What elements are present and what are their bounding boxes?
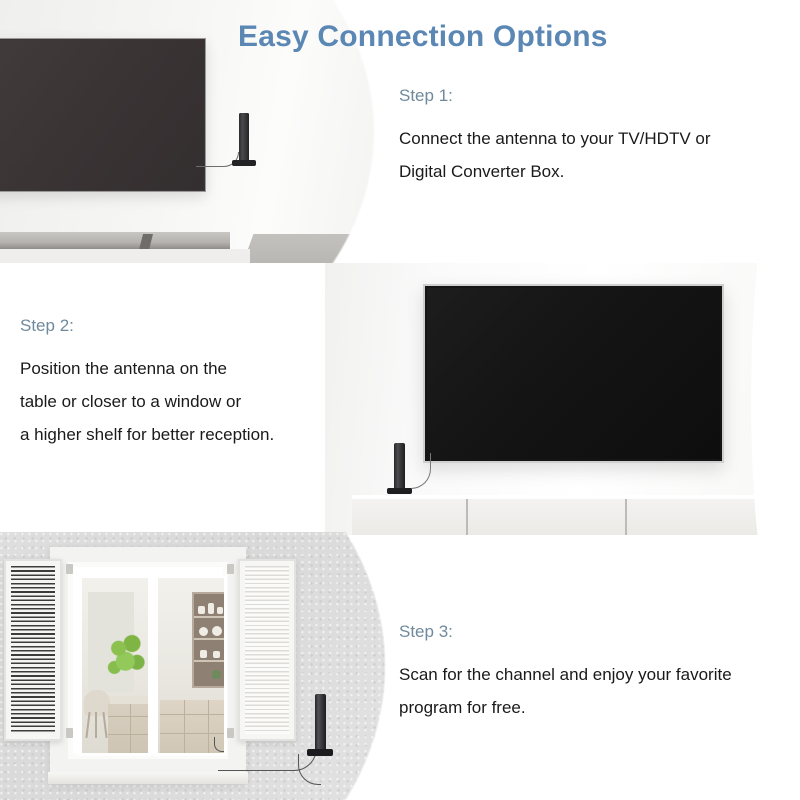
step-1-line-2: Digital Converter Box. — [399, 155, 769, 188]
step-1-line-1: Connect the antenna to your TV/HDTV or — [399, 122, 769, 155]
step-2-line-3: a higher shelf for better reception. — [20, 418, 350, 451]
bowl — [212, 626, 222, 636]
page-title: Easy Connection Options — [238, 20, 608, 54]
step-3-label: Step 3: — [399, 622, 789, 642]
chair-leg — [95, 712, 97, 738]
step-1-body: Connect the antenna to your TV/HDTV or D… — [399, 122, 769, 188]
step-2-line-1: Position the antenna on the — [20, 352, 350, 385]
shutter-hinge — [227, 728, 234, 738]
drawer-seam — [184, 700, 185, 756]
drawer-seam — [160, 714, 227, 715]
window-opening — [68, 562, 228, 759]
shutter-left — [4, 559, 62, 741]
antenna-base — [307, 749, 333, 756]
kitchen-shelving-unit — [192, 592, 226, 688]
dish — [213, 651, 220, 658]
shutter-hinge — [66, 564, 73, 574]
console-seam — [772, 499, 774, 535]
console-seam — [466, 499, 468, 535]
shelf-board — [194, 660, 224, 662]
step-1-block: Step 1: Connect the antenna to your TV/H… — [399, 86, 769, 188]
shutter-slats — [11, 566, 55, 734]
dish — [217, 607, 223, 614]
tv-screen — [427, 288, 720, 459]
antenna-tower — [239, 113, 249, 163]
tv-screen — [0, 40, 204, 190]
antenna-tower — [315, 694, 326, 752]
bowl — [199, 627, 208, 636]
antenna-tower — [394, 443, 405, 491]
shutter-hinge — [66, 728, 73, 738]
dish — [200, 650, 207, 658]
window-pane-left — [79, 575, 151, 756]
shelf-board — [194, 638, 224, 640]
floor-strip — [0, 249, 250, 263]
infographic-page: Easy Connection Options Step 1: Connect … — [0, 0, 800, 800]
houseplant — [106, 630, 148, 682]
step-2-label: Step 2: — [20, 316, 350, 336]
step-2-body: Position the antenna on the table or clo… — [20, 352, 350, 451]
drawer-seam — [160, 733, 227, 734]
kitchen-counter — [108, 704, 151, 756]
media-console — [352, 497, 800, 535]
step-1-label: Step 1: — [399, 86, 769, 106]
photo-window-with-shutters — [0, 532, 390, 800]
shutter-hinge — [227, 564, 234, 574]
window-pane-right — [155, 575, 227, 756]
shutter-slats — [245, 566, 289, 734]
console-top-edge — [352, 495, 800, 499]
dish — [198, 606, 205, 614]
step-3-block: Step 3: Scan for the channel and enjoy y… — [399, 622, 789, 724]
antenna-base — [387, 488, 412, 494]
shelf-board — [194, 616, 224, 618]
television — [423, 284, 724, 463]
step-2-line-2: table or closer to a window or — [20, 385, 350, 418]
drawer-seam — [130, 704, 131, 756]
potted-plant — [212, 670, 221, 679]
photo-tv-above-media-console — [325, 263, 800, 535]
step-3-line-1: Scan for the channel and enjoy your favo… — [399, 658, 789, 691]
step-3-line-2: program for free. — [399, 691, 789, 724]
step-2-block: Step 2: Position the antenna on the tabl… — [20, 316, 350, 451]
window-sill — [48, 772, 248, 784]
drawer-seam — [208, 700, 209, 756]
television — [0, 38, 206, 192]
antenna-base — [232, 160, 256, 166]
concrete-counter — [243, 234, 375, 263]
console-seam — [625, 499, 627, 535]
dish — [208, 603, 214, 614]
step-3-body: Scan for the channel and enjoy your favo… — [399, 658, 789, 724]
shutter-right — [238, 559, 296, 741]
window-mullion — [150, 570, 157, 751]
